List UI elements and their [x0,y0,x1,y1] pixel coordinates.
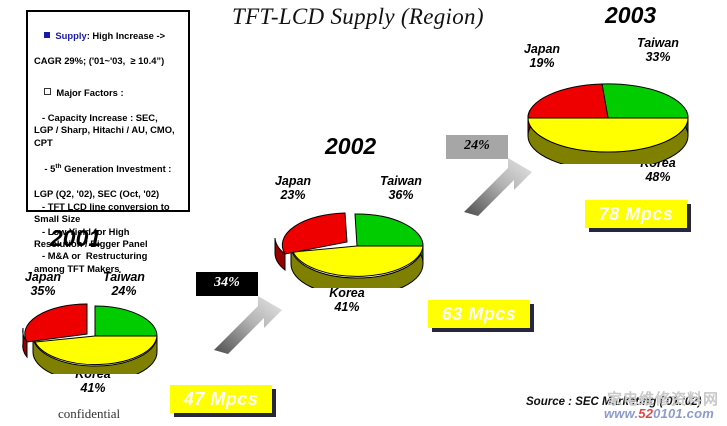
note-factor-line: LGP (Q2, '02), SEC (Oct, '02) [34,188,183,200]
pie-chart-2001: Japan 35% Taiwan 24% Korea 41% [5,262,180,392]
pie-2001-taiwan-value: 24% [111,284,136,298]
pie-2001-svg [13,298,173,374]
watermark-url-mid: 52 [638,406,653,421]
hollow-square-bullet-icon [44,88,51,95]
pie-2002-japan-value: 23% [280,188,305,202]
pie-chart-2002: Japan 23% Taiwan 36% Korea 41% [255,170,455,315]
note-supply-line2: CAGR 29%; ('01~'03, ≥ 10.4”) [34,55,183,67]
growth-callout-2002-2003: 24% [446,135,508,159]
pie-2002-taiwan-label: Taiwan 36% [361,174,441,202]
growth-callout-2001-2002: 34% [196,272,258,296]
year-heading-2003: 2003 [605,2,656,29]
note-factor-line: CPT [34,137,183,149]
pie-2002-taiwan-name: Taiwan [380,174,422,188]
note-supply-label: Supply [55,30,86,41]
pie-2002-japan-name: Japan [275,174,311,188]
total-callout-2003: 78 Mpcs [585,200,687,228]
watermark-url: www.520101.com [604,406,714,421]
total-callout-2001-text: 47 Mpcs [170,385,272,413]
pie-2002-svg [269,204,447,288]
watermark-url-suffix: 0101.com [653,406,714,421]
note-factors-label: Major Factors : [56,87,123,98]
pie-2003-taiwan-value: 33% [645,50,670,64]
note-factor-line: - M&A or Restructuring [34,250,183,262]
pie-2001-taiwan-label: Taiwan 24% [87,270,161,298]
pie-2003-japan-name: Japan [524,42,560,56]
total-callout-2001: 47 Mpcs [170,385,272,413]
pie-2002-korea-value: 41% [334,300,359,314]
year-heading-2001: 2001 [50,225,101,252]
pie-2003-korea-value: 48% [645,170,670,184]
growth-arrow-2002-2003-icon [462,158,540,216]
pie-2002-taiwan-value: 36% [388,188,413,202]
pie-2002-korea-label: Korea 41% [307,286,387,314]
growth-arrow-2001-2002-icon [212,296,290,354]
pie-2001-japan-label: Japan 35% [7,270,79,298]
note-factor-line-5th: - 5th Generation Investment : [34,149,183,188]
note-supply-heading: Supply: High Increase -> [34,18,183,55]
pie-2002-japan-label: Japan 23% [255,174,331,202]
page-title: TFT-LCD Supply (Region) [232,4,552,30]
pie-2001-japan-name: Japan [25,270,61,284]
watermark-url-prefix: www. [604,406,638,421]
pie-2001-taiwan-name: Taiwan [103,270,145,284]
pie-2001-japan-value: 35% [30,284,55,298]
total-callout-2003-text: 78 Mpcs [585,200,687,228]
notes-spacer [34,68,183,75]
supply-notes-box: Supply: High Increase -> CAGR 29%; ('01~… [26,10,190,212]
pie-2003-japan-value: 19% [529,56,554,70]
note-factors-heading: Major Factors : [34,75,183,112]
total-callout-2002-text: 63 Mpcs [428,300,530,328]
pie-2002-korea-name: Korea [329,286,364,300]
pie-2001-korea-value: 41% [80,381,105,395]
note-factor-line: LGP / Sharp, Hitachi / AU, CMO, [34,124,183,136]
total-callout-2002: 63 Mpcs [428,300,530,328]
filled-square-bullet-icon [44,32,50,38]
pie-2003-taiwan-label: Taiwan 33% [618,36,698,64]
year-heading-2002: 2002 [325,133,376,160]
note-5th-prefix: - 5 [44,164,55,175]
note-5th-rest: Generation Investment : [62,164,172,175]
note-factor-line: - Capacity Increase : SEC, [34,112,183,124]
note-supply-line1: : High Increase -> [87,30,165,41]
confidential-label: confidential [58,406,120,422]
pie-2003-japan-label: Japan 19% [504,42,580,70]
note-factor-line: - TFT LCD line conversion to [34,201,183,213]
pie-2003-svg [516,74,702,164]
pie-2003-taiwan-name: Taiwan [637,36,679,50]
note-factor-line: Small Size [34,213,183,225]
